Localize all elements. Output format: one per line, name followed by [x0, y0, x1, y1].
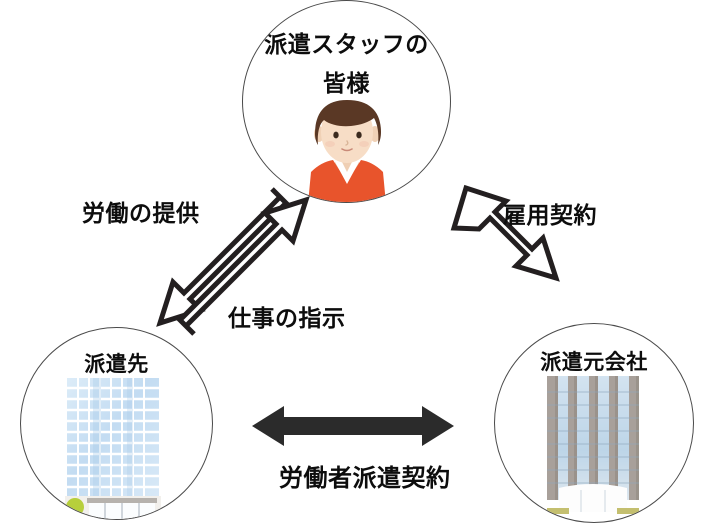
node-dispatch-staff-label-line1: 派遣スタッフの	[243, 25, 450, 59]
arrow-worker-dispatch-contract	[250, 403, 456, 449]
node-dispatch-source-label: 派遣元会社	[495, 346, 693, 376]
node-dispatch-staff[interactable]: 派遣スタッフの 皆様	[242, 0, 451, 203]
diagram-canvas: 派遣スタッフの 皆様	[0, 0, 715, 527]
person-illustration	[293, 100, 401, 203]
edge-label-work-order: 仕事の指示	[228, 299, 346, 333]
edge-label-labor-supply: 労働の提供	[82, 194, 200, 228]
node-dispatch-staff-label-line2: 皆様	[243, 64, 450, 98]
gray-skyscraper-illustration	[543, 376, 643, 518]
node-dispatch-source[interactable]: 派遣元会社	[494, 323, 694, 523]
edge-label-worker-dispatch-contract: 労働者派遣契約	[279, 458, 451, 493]
node-dispatch-destination[interactable]: 派遣先	[20, 327, 213, 520]
edge-label-employment-contract: 雇用契約	[503, 196, 597, 230]
node-dispatch-destination-label: 派遣先	[21, 348, 212, 378]
blue-office-building-illustration	[65, 378, 161, 520]
